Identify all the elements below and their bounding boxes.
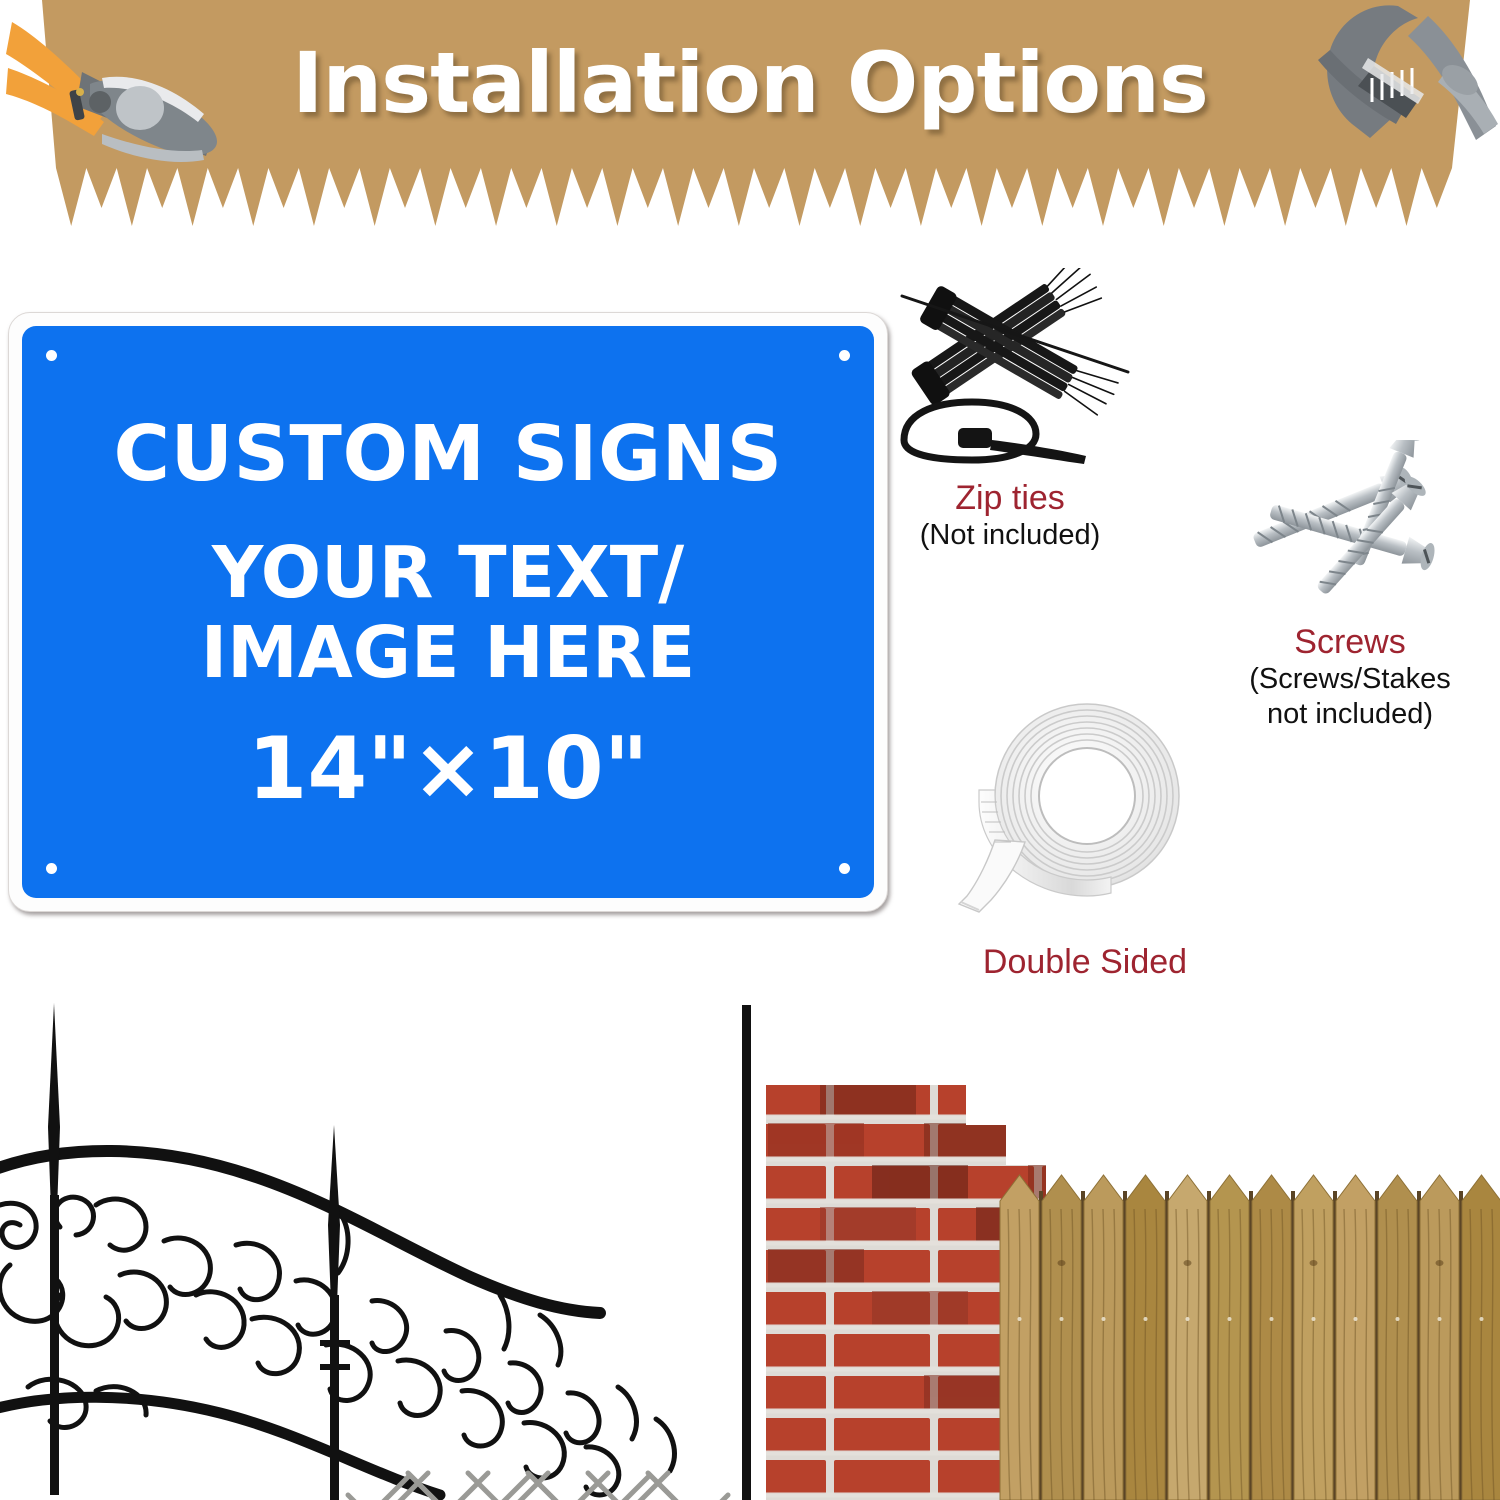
part-screws: Screws (Screws/Stakes not included) [1205,440,1495,732]
wooden-picket-fence [1000,1175,1500,1500]
surfaces-illustration [0,995,1500,1500]
header-banner: Installation Options [0,0,1500,230]
screws-icon [1210,440,1490,610]
sign-text-line-1: YOUR TEXT/ [212,533,684,613]
part-label-tape-line1: Double Sided [935,943,1235,982]
part-label-zip-ties: Zip ties [860,479,1160,518]
page-title: Installation Options [0,34,1500,132]
mounting-hole-icon [839,350,850,361]
sign-size-label: 14"×10" [247,726,648,812]
foam-tape-icon [935,690,1235,930]
panel-divider [742,1005,751,1500]
mounting-hole-icon [46,863,57,874]
part-note-zip-ties: (Not included) [860,518,1160,553]
zip-ties-icon [860,268,1160,468]
part-note-screws-line1: (Screws/Stakes [1205,662,1495,697]
part-label-screws: Screws [1205,623,1495,662]
sign-text-line-2: IMAGE HERE [201,613,696,693]
infographic-canvas: Installation Options CUSTOM SIGNS YOUR T… [0,0,1500,1500]
zip-tie-loop [904,402,1086,464]
part-zip-ties: Zip ties (Not included) [860,268,1160,553]
custom-sign-preview: CUSTOM SIGNS YOUR TEXT/ IMAGE HERE 14"×1… [8,312,888,912]
wrought-iron-gate [0,1003,674,1500]
surface-examples [0,995,1500,1500]
sign-headline: CUSTOM SIGNS [113,416,782,493]
mounting-hole-icon [46,350,57,361]
mounting-hole-icon [839,863,850,874]
part-note-screws-line2: not included) [1205,697,1495,732]
sign-face: CUSTOM SIGNS YOUR TEXT/ IMAGE HERE 14"×1… [22,326,874,898]
